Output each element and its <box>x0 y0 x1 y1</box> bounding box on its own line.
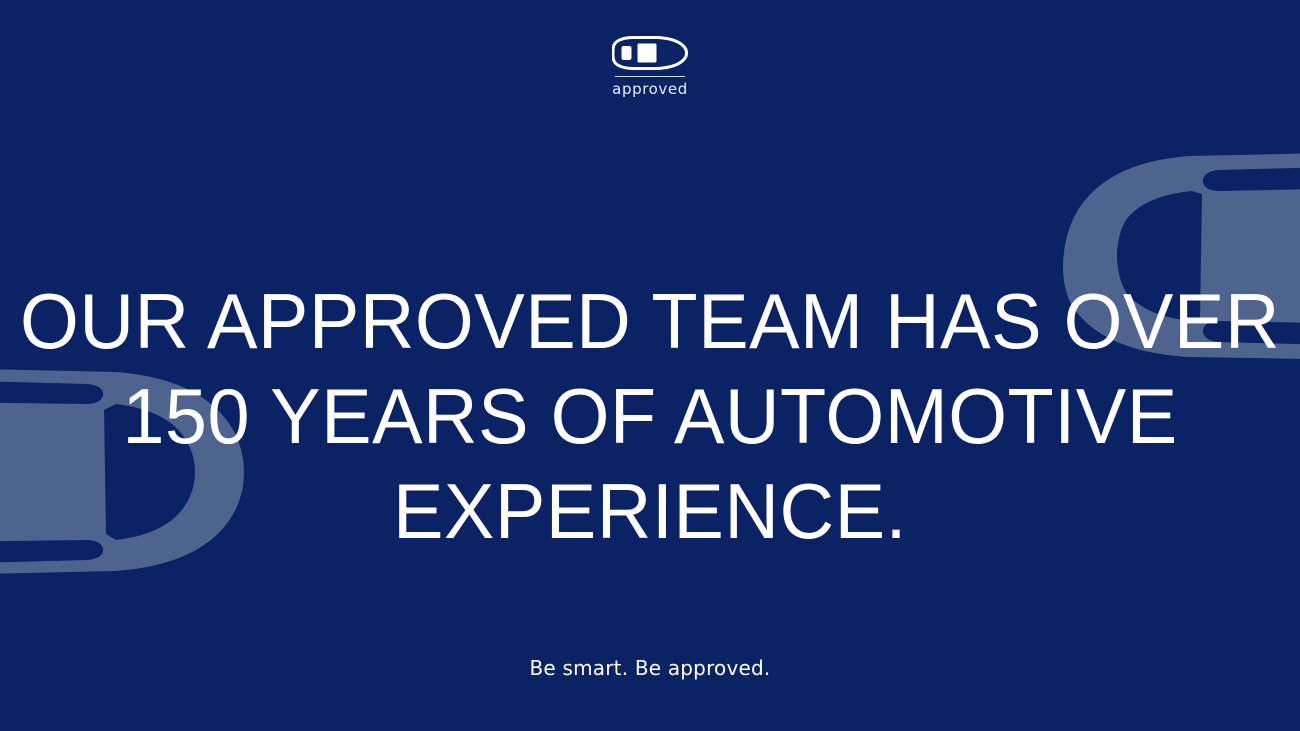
headline-line-3: EXPERIENCE. <box>20 464 1281 559</box>
headline-line-2: 150 YEARS OF AUTOMOTIVE <box>20 369 1281 464</box>
slide-canvas: approved OUR APPROVED TEAM HAS OVER 150 … <box>0 0 1300 731</box>
tagline: Be smart. Be approved. <box>0 656 1300 680</box>
headline: OUR APPROVED TEAM HAS OVER 150 YEARS OF … <box>20 274 1281 559</box>
headline-line-1: OUR APPROVED TEAM HAS OVER <box>20 274 1281 369</box>
brand-logo: approved <box>0 36 1300 98</box>
logo-wordmark: approved <box>612 81 688 98</box>
logo-divider <box>615 76 685 77</box>
car-top-view-icon <box>612 36 688 70</box>
